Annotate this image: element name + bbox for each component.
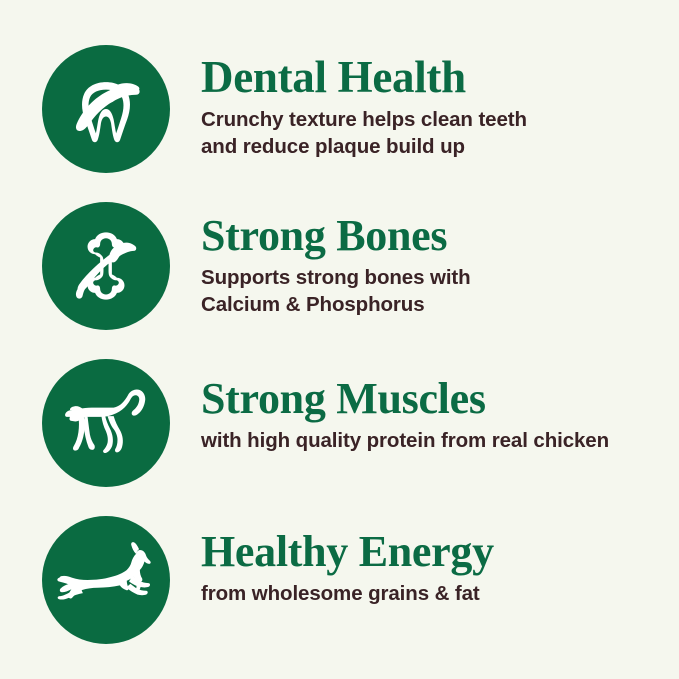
benefit-description: with high quality protein from real chic…	[201, 427, 659, 454]
benefit-title: Dental Health	[201, 55, 659, 100]
benefit-row-healthy-energy: Healthy Energy from wholesome grains & f…	[42, 516, 659, 673]
benefit-title: Healthy Energy	[201, 530, 659, 574]
benefit-description: Supports strong bones with Calcium & Pho…	[201, 264, 659, 319]
benefit-description-line: from wholesome grains & fat	[201, 580, 659, 607]
tooth-leaf-icon-badge	[42, 45, 170, 173]
benefit-row-strong-muscles: Strong Muscles with high quality protein…	[42, 359, 659, 516]
leaping-dog-icon	[56, 530, 156, 630]
benefit-description-line: Calcium & Phosphorus	[201, 291, 659, 318]
benefit-description: Crunchy texture helps clean teeth and re…	[201, 106, 659, 161]
tooth-leaf-icon	[64, 67, 148, 151]
benefit-description-line: and reduce plaque build up	[201, 133, 659, 160]
benefit-description-line: with high quality protein from real chic…	[201, 427, 659, 454]
benefit-row-strong-bones: Strong Bones Supports strong bones with …	[42, 202, 659, 359]
benefit-description-line: Crunchy texture helps clean teeth	[201, 106, 659, 133]
benefit-row-dental-health: Dental Health Crunchy texture helps clea…	[42, 45, 659, 202]
bone-leaf-icon-badge	[42, 202, 170, 330]
benefit-description: from wholesome grains & fat	[201, 580, 659, 607]
benefit-text-dental-health: Dental Health Crunchy texture helps clea…	[170, 45, 659, 161]
benefit-text-strong-bones: Strong Bones Supports strong bones with …	[170, 202, 659, 319]
benefit-description-line: Supports strong bones with	[201, 264, 659, 291]
leaping-dog-icon-badge	[42, 516, 170, 644]
standing-dog-icon-badge	[42, 359, 170, 487]
benefit-text-strong-muscles: Strong Muscles with high quality protein…	[170, 359, 659, 454]
benefit-title: Strong Muscles	[201, 377, 659, 421]
benefit-text-healthy-energy: Healthy Energy from wholesome grains & f…	[170, 516, 659, 607]
benefit-title: Strong Bones	[201, 214, 659, 258]
bone-leaf-icon	[64, 224, 148, 308]
standing-dog-icon	[60, 377, 152, 469]
benefits-panel: Dental Health Crunchy texture helps clea…	[0, 0, 679, 679]
